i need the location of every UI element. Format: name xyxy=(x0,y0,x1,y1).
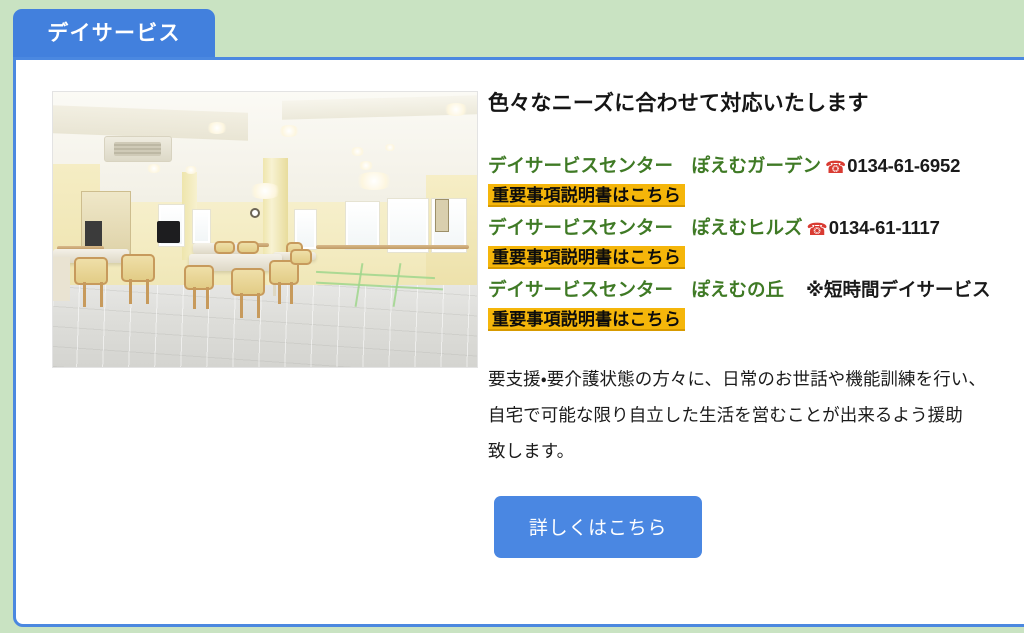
service-link-garden[interactable]: デイサービスセンター ぽえむガーデン xyxy=(488,155,821,176)
service-line: デイサービスセンター ぽえむヒルズ☎0134-61-1117 xyxy=(488,213,1024,243)
page-root: デイサービス xyxy=(0,0,1024,633)
description-text: 要支援・要介護状態の方々に、日常のお世話や機能訓練を行い、 自宅で可能な限り自立… xyxy=(488,361,1024,470)
service-item: デイサービスセンター ぽえむヒルズ☎0134-61-1117 重要事項説明書はこ… xyxy=(488,213,1024,269)
service-link-oka[interactable]: デイサービスセンター ぽえむの丘 xyxy=(488,279,784,300)
service-tel: 0134-61-1117 xyxy=(829,217,940,238)
content-panel: 色々なニーズに合わせて対応いたします デイサービスセンター ぽえむガーデン☎01… xyxy=(13,57,1024,627)
description-line: 致します。 xyxy=(488,433,1024,469)
text-column: 色々なニーズに合わせて対応いたします デイサービスセンター ぽえむガーデン☎01… xyxy=(478,60,1024,558)
service-tel: 0134-61-6952 xyxy=(847,155,960,176)
tab-row: デイサービス xyxy=(0,0,1024,59)
tab-label: デイサービス xyxy=(47,23,181,44)
doc-link-row: 重要事項説明書はこちら xyxy=(488,246,1024,269)
telephone-icon: ☎ xyxy=(807,221,828,238)
important-document-link[interactable]: 重要事項説明書はこちら xyxy=(488,308,685,331)
doc-link-row: 重要事項説明書はこちら xyxy=(488,308,1024,331)
service-item: デイサービスセンター ぽえむガーデン☎0134-61-6952 重要事項説明書は… xyxy=(488,151,1024,207)
service-link-hills[interactable]: デイサービスセンター ぽえむヒルズ xyxy=(488,217,803,238)
tab-day-service[interactable]: デイサービス xyxy=(13,9,215,59)
page-title: 色々なニーズに合わせて対応いたします xyxy=(488,87,1024,117)
doc-link-row: 重要事項説明書はこちら xyxy=(488,184,1024,207)
facility-photo xyxy=(52,91,478,368)
important-document-link[interactable]: 重要事項説明書はこちら xyxy=(488,184,685,207)
service-line: デイサービスセンター ぽえむの丘※短時間デイサービス xyxy=(488,275,1024,305)
service-item: デイサービスセンター ぽえむの丘※短時間デイサービス 重要事項説明書はこちら xyxy=(488,275,1024,331)
description-line: 自宅で可能な限り自立した生活を営むことが出来るよう援助 xyxy=(488,397,1024,433)
photo-column xyxy=(16,60,478,368)
service-line: デイサービスセンター ぽえむガーデン☎0134-61-6952 xyxy=(488,151,1024,181)
service-note: ※短時間デイサービス xyxy=(806,279,991,300)
details-button[interactable]: 詳しくはこちら xyxy=(494,496,702,558)
important-document-link[interactable]: 重要事項説明書はこちら xyxy=(488,246,685,269)
service-list: デイサービスセンター ぽえむガーデン☎0134-61-6952 重要事項説明書は… xyxy=(488,151,1024,331)
telephone-icon: ☎ xyxy=(825,159,846,176)
description-line: 要支援・要介護状態の方々に、日常のお世話や機能訓練を行い、 xyxy=(488,361,1024,397)
cta-wrapper: 詳しくはこちら xyxy=(488,496,1024,558)
